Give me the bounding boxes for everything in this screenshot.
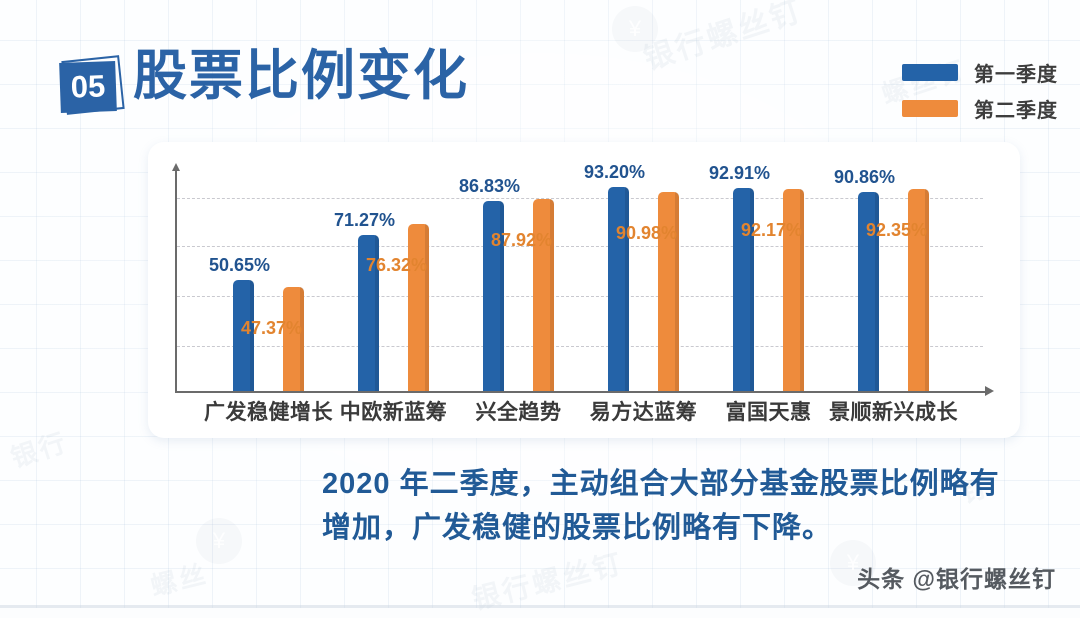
bars-layer: 50.65%47.37%71.27%76.32%86.83%87.92%93.2… <box>175 170 987 391</box>
legend-swatch-blue-icon <box>902 64 958 81</box>
section-number-badge: 05 <box>60 56 124 114</box>
bar-value-label-q1: 50.65% <box>209 255 270 276</box>
bar-value-label-q1: 71.27% <box>334 210 395 231</box>
bar-q2 <box>408 224 429 391</box>
bar-chart-plot: 50.65%47.37%71.27%76.32%86.83%87.92%93.2… <box>175 170 995 415</box>
x-axis-line <box>175 391 987 393</box>
page-title: 股票比例变化 <box>133 44 469 108</box>
bar-value-label-q1: 93.20% <box>584 162 645 183</box>
legend-item-q2: 第二季度 <box>902 94 1058 123</box>
bar-value-label-q1: 86.83% <box>459 176 520 197</box>
bar-q2 <box>283 287 304 391</box>
summary-caption: 2020 年二季度，主动组合大部分基金股票比例略有增加，广发稳健的股票比例略有下… <box>322 462 1022 550</box>
chart-card: 50.65%47.37%71.27%76.32%86.83%87.92%93.2… <box>148 142 1020 438</box>
header: 05 股票比例变化 第一季度 第二季度 <box>0 0 1080 142</box>
bar-group: 93.20%90.98% <box>608 170 679 391</box>
legend-label-q2: 第二季度 <box>974 94 1058 123</box>
bar-q2 <box>533 199 554 391</box>
bar-q1 <box>733 188 754 391</box>
bar-q1 <box>608 187 629 391</box>
bar-group: 71.27%76.32% <box>358 170 429 391</box>
badge-number: 05 <box>59 61 117 113</box>
bar-shading <box>550 199 554 391</box>
bar-shading <box>300 287 304 391</box>
bar-shading <box>750 188 754 391</box>
bar-value-label-q2: 87.92% <box>491 230 552 251</box>
bar-shading <box>675 192 679 391</box>
category-label: 景顺新兴成长 <box>814 396 973 426</box>
bar-group: 50.65%47.37% <box>233 170 304 391</box>
bar-shading <box>625 187 629 391</box>
bar-value-label-q2: 92.17% <box>741 220 802 241</box>
legend-item-q1: 第一季度 <box>902 58 1058 87</box>
bar-value-label-q2: 90.98% <box>616 223 677 244</box>
legend-label-q1: 第一季度 <box>974 58 1058 87</box>
bar-group: 86.83%87.92% <box>483 170 554 391</box>
bar-value-label-q1: 90.86% <box>834 167 895 188</box>
bar-group: 90.86%92.35% <box>858 170 929 391</box>
bar-group: 92.91%92.17% <box>733 170 804 391</box>
bar-value-label-q1: 92.91% <box>709 163 770 184</box>
bar-value-label-q2: 92.35% <box>866 220 927 241</box>
bar-q2 <box>658 192 679 391</box>
bar-shading <box>425 224 429 391</box>
chart-legend: 第一季度 第二季度 <box>902 58 1058 123</box>
category-labels: 广发稳健增长中欧新蓝筹兴全趋势易方达蓝筹富国天惠景顺新兴成长 <box>175 396 995 430</box>
bar-value-label-q2: 76.32% <box>366 255 427 276</box>
footer-attribution: 头条 @银行螺丝钉 <box>857 560 1056 594</box>
legend-swatch-orange-icon <box>902 100 958 117</box>
bar-value-label-q2: 47.37% <box>241 318 302 339</box>
